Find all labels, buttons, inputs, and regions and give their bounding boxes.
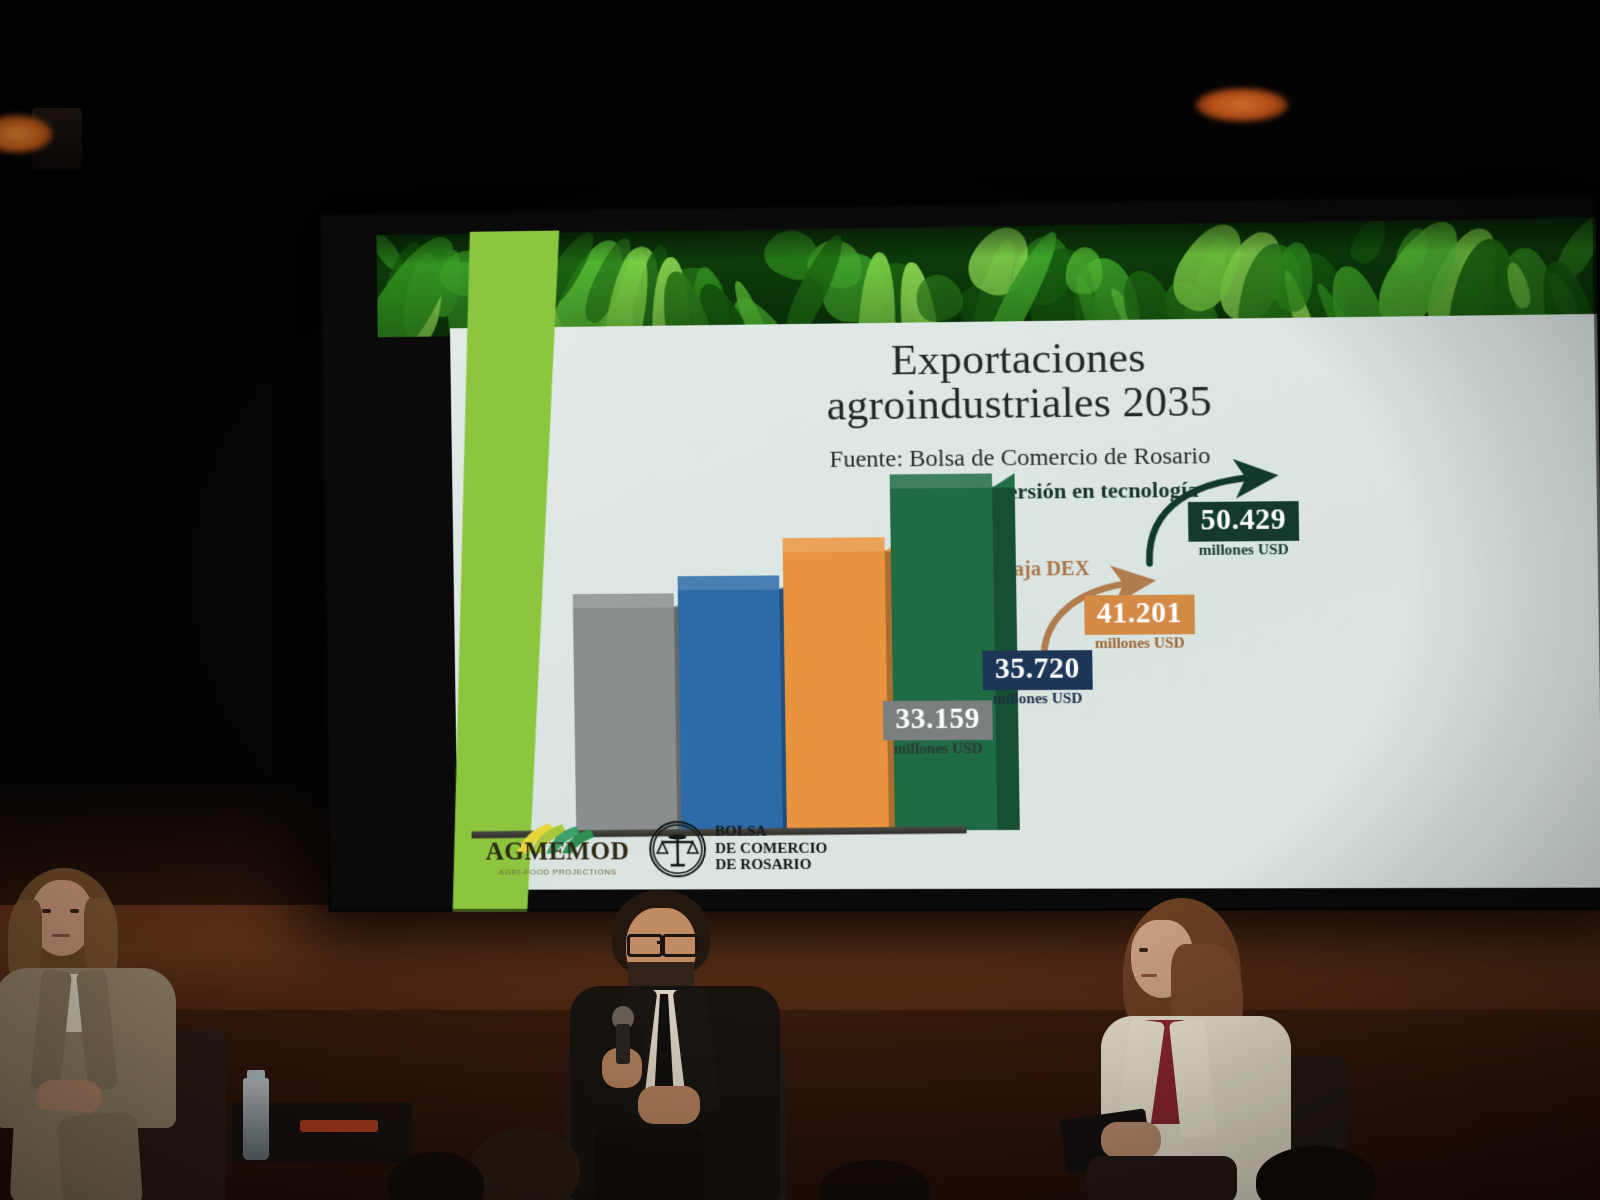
glasses-right-lens-icon — [662, 934, 698, 957]
bottle-cap — [247, 1070, 265, 1082]
microphone-body-icon — [616, 1024, 630, 1064]
panelist-center — [540, 890, 840, 1200]
panelist-right-lap — [1087, 1156, 1237, 1200]
audience-head-1 — [470, 1128, 580, 1200]
projection-screen: Exportaciones agroindustriales 2035 Fuen… — [318, 193, 1600, 912]
glasses-bridge-icon — [657, 941, 665, 944]
water-bottle — [243, 1078, 269, 1160]
panelist-left-leg-2 — [57, 1111, 144, 1200]
table-object-red — [300, 1120, 378, 1132]
stage-light-right-icon — [1196, 88, 1288, 122]
panelist-center-legs — [594, 1128, 704, 1200]
stage-scene: Exportaciones agroindustriales 2035 Fuen… — [0, 0, 1600, 1200]
panelist-center-hand-2 — [638, 1086, 700, 1124]
panelist-right-hands — [1101, 1122, 1161, 1158]
glasses-left-lens-icon — [627, 934, 663, 957]
